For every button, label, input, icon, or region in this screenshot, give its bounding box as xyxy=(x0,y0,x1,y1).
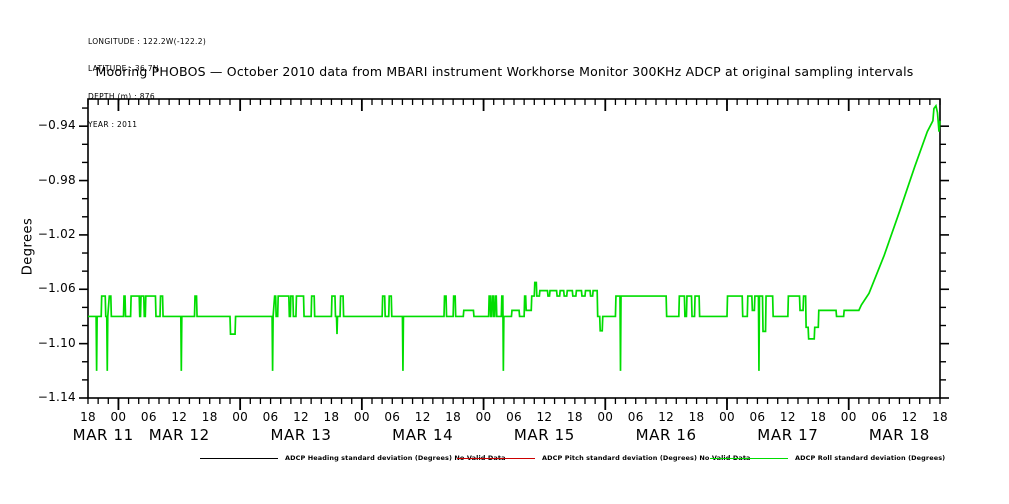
chart-legend: ADCP Heading standard deviation (Degrees… xyxy=(0,449,1009,469)
x-axis-day-label: MAR 18 xyxy=(844,426,954,444)
x-axis-hour-label: 18 xyxy=(920,410,960,424)
legend-color-swatch xyxy=(200,458,278,459)
x-axis-day-label: MAR 13 xyxy=(246,426,356,444)
x-axis-day-label: MAR 17 xyxy=(733,426,843,444)
y-axis-tick-label: −0.98 xyxy=(16,173,76,187)
legend-item[interactable]: ADCP Roll standard deviation (Degrees) xyxy=(710,449,945,467)
legend-item[interactable]: ADCP Pitch standard deviation (Degrees) … xyxy=(457,449,751,467)
x-axis-day-label: MAR 16 xyxy=(611,426,721,444)
x-axis-day-label: MAR 14 xyxy=(368,426,478,444)
chart-plot-area: −0.94−0.98−1.02−1.06−1.10−1.14Degrees180… xyxy=(0,0,1009,504)
x-axis-day-label: MAR 12 xyxy=(124,426,234,444)
legend-color-swatch xyxy=(457,458,535,459)
legend-label: ADCP Roll standard deviation (Degrees) xyxy=(795,454,945,462)
y-axis-tick-label: −0.94 xyxy=(16,118,76,132)
data-series-roll xyxy=(88,106,940,371)
x-axis-day-label: MAR 15 xyxy=(489,426,599,444)
y-axis-tick-label: −1.10 xyxy=(16,336,76,350)
y-axis-title: Degrees xyxy=(21,186,36,306)
y-axis-tick-label: −1.14 xyxy=(16,390,76,404)
legend-color-swatch xyxy=(710,458,788,459)
plot-frame xyxy=(88,99,940,398)
